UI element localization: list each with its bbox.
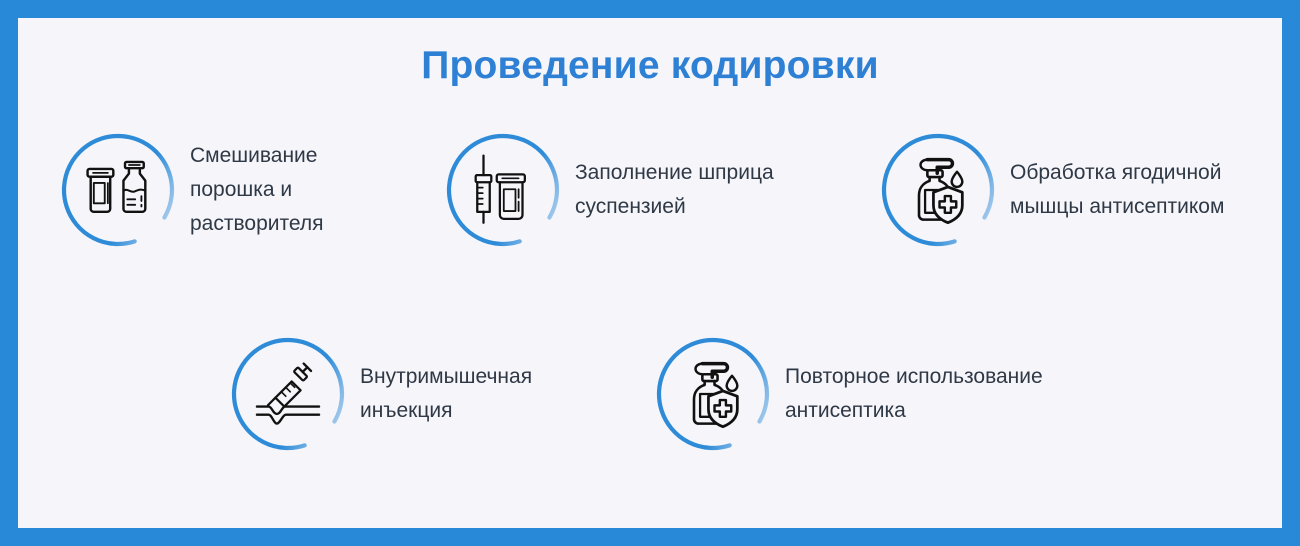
step-item-4[interactable]: Внутримышечная инъекция [230,336,575,452]
step-label-4: Внутримышечная инъекция [360,360,575,428]
step-circle-4 [230,336,346,452]
step-label-5: Повторное использование антисептика [785,360,1105,428]
step-item-2[interactable]: Заполнение шприца суспензией [445,132,820,248]
infographic-frame: Проведение кодировки [0,0,1300,546]
step-item-1[interactable]: Смешивание порошка и растворителя [60,132,360,248]
step-circle-1 [60,132,176,248]
page-title: Проведение кодировки [18,44,1282,88]
step-item-5[interactable]: Повторное использование антисептика [655,336,1105,452]
intramuscular-injection-icon [230,336,346,452]
step-label-3: Обработка ягодичной мышцы антисептиком [1010,156,1270,224]
antiseptic-dispenser-shield-icon [655,336,771,452]
step-label-2: Заполнение шприца суспензией [575,156,820,224]
step-item-3[interactable]: Обработка ягодичной мышцы антисептиком [880,132,1270,248]
infographic-canvas: Проведение кодировки [18,18,1282,528]
step-circle-5 [655,336,771,452]
step-circle-3 [880,132,996,248]
step-circle-2 [445,132,561,248]
step-label-1: Смешивание порошка и растворителя [190,139,360,241]
vial-and-bottle-icon [60,132,176,248]
antiseptic-dispenser-shield-icon [880,132,996,248]
syringe-and-vial-icon [445,132,561,248]
